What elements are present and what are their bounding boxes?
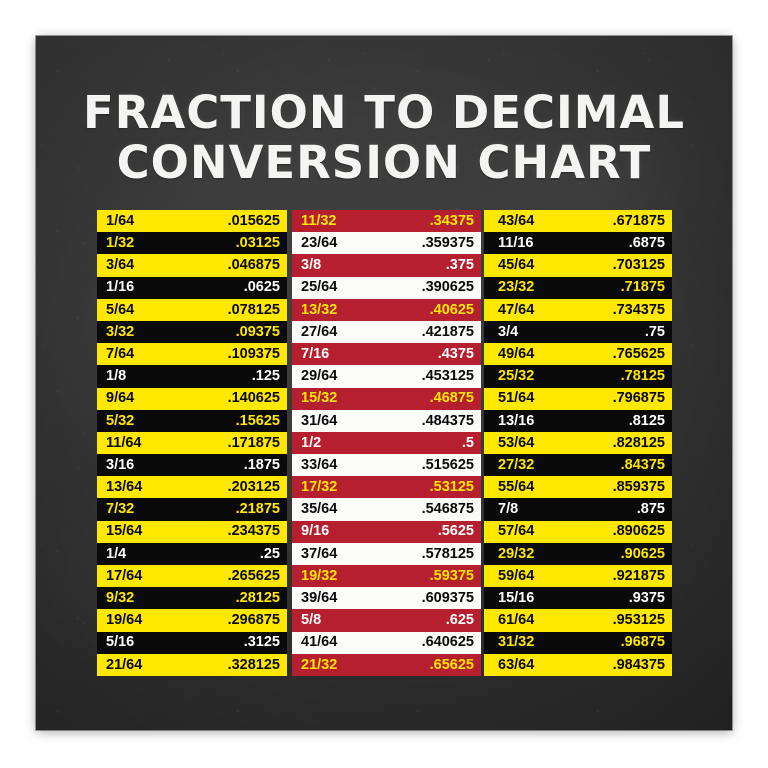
table-row: 63/64.984375: [484, 654, 672, 676]
table-row: 15/16.9375: [484, 587, 672, 609]
decimal-cell: .296875: [228, 613, 280, 628]
fraction-cell: 5/32: [106, 414, 134, 429]
fraction-cell: 11/16: [498, 236, 534, 251]
table-row: 55/64.859375: [484, 476, 672, 498]
table-row: 25/64.390625: [292, 277, 481, 299]
decimal-cell: .609375: [422, 591, 474, 606]
fraction-cell: 31/64: [301, 414, 337, 429]
fraction-cell: 3/32: [106, 325, 134, 340]
decimal-cell: .6875: [629, 236, 665, 251]
decimal-cell: .59375: [430, 569, 474, 584]
fraction-cell: 29/64: [301, 369, 337, 384]
fraction-cell: 1/8: [106, 369, 126, 384]
fraction-cell: 7/32: [106, 502, 134, 517]
table-row: 9/64.140625: [97, 388, 287, 410]
table-row: 25/32.78125: [484, 365, 672, 387]
table-row: 53/64.828125: [484, 432, 672, 454]
decimal-cell: .359375: [422, 236, 474, 251]
table-row: 19/64.296875: [97, 609, 287, 631]
table-row: 7/8.875: [484, 498, 672, 520]
decimal-cell: .875: [637, 502, 665, 517]
table-row: 1/4.25: [97, 543, 287, 565]
table-row: 11/32.34375: [292, 210, 481, 232]
decimal-cell: .65625: [430, 658, 474, 673]
decimal-cell: .9375: [629, 591, 665, 606]
fraction-cell: 63/64: [498, 658, 534, 673]
fraction-cell: 21/64: [106, 658, 142, 673]
table-row: 29/64.453125: [292, 365, 481, 387]
table-row: 1/2.5: [292, 432, 481, 454]
decimal-cell: .078125: [228, 303, 280, 318]
decimal-cell: .625: [446, 613, 474, 628]
fraction-cell: 1/64: [106, 214, 134, 229]
fraction-cell: 39/64: [301, 591, 337, 606]
decimal-cell: .71875: [621, 280, 665, 295]
decimal-cell: .90625: [621, 547, 665, 562]
decimal-cell: .671875: [613, 214, 665, 229]
table-row: 9/16.5625: [292, 521, 481, 543]
decimal-cell: .453125: [422, 369, 474, 384]
fraction-cell: 9/16: [301, 524, 329, 539]
table-row: 49/64.765625: [484, 343, 672, 365]
fraction-cell: 3/8: [301, 258, 321, 273]
poster-canvas: FRACTION TO DECIMAL CONVERSION CHART 1/6…: [0, 0, 768, 768]
decimal-cell: .40625: [430, 303, 474, 318]
table-row: 11/64.171875: [97, 432, 287, 454]
table-row: 1/8.125: [97, 365, 287, 387]
table-row: 11/16.6875: [484, 232, 672, 254]
table-row: 5/64.078125: [97, 299, 287, 321]
page-title: FRACTION TO DECIMAL CONVERSION CHART: [36, 88, 732, 188]
decimal-cell: .203125: [228, 480, 280, 495]
table-row: 23/32.71875: [484, 277, 672, 299]
fraction-cell: 3/16: [106, 458, 134, 473]
decimal-cell: .890625: [613, 524, 665, 539]
table-row: 7/16.4375: [292, 343, 481, 365]
decimal-cell: .03125: [236, 236, 280, 251]
table-row: 61/64.953125: [484, 609, 672, 631]
table-row: 17/64.265625: [97, 565, 287, 587]
chalkboard-panel: FRACTION TO DECIMAL CONVERSION CHART 1/6…: [36, 36, 732, 730]
table-row: 37/64.578125: [292, 543, 481, 565]
decimal-cell: .34375: [430, 214, 474, 229]
table-column-3: 43/64.67187511/16.687545/64.70312523/32.…: [484, 210, 672, 676]
decimal-cell: .578125: [422, 547, 474, 562]
conversion-table: 1/64.0156251/32.031253/64.0468751/16.062…: [97, 210, 672, 676]
table-row: 31/64.484375: [292, 410, 481, 432]
decimal-cell: .859375: [613, 480, 665, 495]
decimal-cell: .796875: [613, 391, 665, 406]
table-column-1: 1/64.0156251/32.031253/64.0468751/16.062…: [97, 210, 287, 676]
table-row: 5/16.3125: [97, 632, 287, 654]
title-line-2: CONVERSION CHART: [36, 138, 732, 188]
table-row: 5/32.15625: [97, 410, 287, 432]
table-row: 27/64.421875: [292, 321, 481, 343]
table-row: 35/64.546875: [292, 498, 481, 520]
table-row: 27/32.84375: [484, 454, 672, 476]
decimal-cell: .828125: [613, 436, 665, 451]
title-line-1: FRACTION TO DECIMAL: [36, 88, 732, 138]
table-row: 39/64.609375: [292, 587, 481, 609]
fraction-cell: 17/32: [301, 480, 337, 495]
fraction-cell: 5/8: [301, 613, 321, 628]
fraction-cell: 1/4: [106, 547, 126, 562]
decimal-cell: .703125: [613, 258, 665, 273]
fraction-cell: 3/4: [498, 325, 518, 340]
fraction-cell: 3/64: [106, 258, 134, 273]
table-row: 15/64.234375: [97, 521, 287, 543]
decimal-cell: .390625: [422, 280, 474, 295]
fraction-cell: 19/64: [106, 613, 142, 628]
decimal-cell: .984375: [613, 658, 665, 673]
decimal-cell: .96875: [621, 635, 665, 650]
fraction-cell: 13/16: [498, 414, 534, 429]
decimal-cell: .953125: [613, 613, 665, 628]
fraction-cell: 7/64: [106, 347, 134, 362]
decimal-cell: .28125: [236, 591, 280, 606]
fraction-cell: 9/32: [106, 591, 134, 606]
table-row: 43/64.671875: [484, 210, 672, 232]
fraction-cell: 13/32: [301, 303, 337, 318]
table-row: 21/64.328125: [97, 654, 287, 676]
decimal-cell: .765625: [613, 347, 665, 362]
decimal-cell: .921875: [613, 569, 665, 584]
decimal-cell: .234375: [228, 524, 280, 539]
decimal-cell: .328125: [228, 658, 280, 673]
fraction-cell: 7/8: [498, 502, 518, 517]
fraction-cell: 27/32: [498, 458, 534, 473]
table-row: 41/64.640625: [292, 632, 481, 654]
fraction-cell: 15/64: [106, 524, 142, 539]
table-row: 3/8.375: [292, 254, 481, 276]
decimal-cell: .78125: [621, 369, 665, 384]
fraction-cell: 1/2: [301, 436, 321, 451]
decimal-cell: .734375: [613, 303, 665, 318]
decimal-cell: .15625: [236, 414, 280, 429]
table-row: 51/64.796875: [484, 388, 672, 410]
decimal-cell: .265625: [228, 569, 280, 584]
fraction-cell: 1/32: [106, 236, 134, 251]
decimal-cell: .546875: [422, 502, 474, 517]
fraction-cell: 5/16: [106, 635, 134, 650]
fraction-cell: 43/64: [498, 214, 534, 229]
fraction-cell: 49/64: [498, 347, 534, 362]
fraction-cell: 55/64: [498, 480, 534, 495]
fraction-cell: 13/64: [106, 480, 142, 495]
decimal-cell: .1875: [244, 458, 280, 473]
fraction-cell: 7/16: [301, 347, 329, 362]
fraction-cell: 9/64: [106, 391, 134, 406]
fraction-cell: 15/32: [301, 391, 337, 406]
fraction-cell: 1/16: [106, 280, 134, 295]
fraction-cell: 23/32: [498, 280, 534, 295]
table-row: 13/64.203125: [97, 476, 287, 498]
decimal-cell: .21875: [236, 502, 280, 517]
fraction-cell: 45/64: [498, 258, 534, 273]
decimal-cell: .046875: [228, 258, 280, 273]
fraction-cell: 15/16: [498, 591, 534, 606]
decimal-cell: .125: [252, 369, 280, 384]
fraction-cell: 17/64: [106, 569, 142, 584]
table-row: 3/16.1875: [97, 454, 287, 476]
table-row: 7/32.21875: [97, 498, 287, 520]
table-row: 3/64.046875: [97, 254, 287, 276]
table-row: 9/32.28125: [97, 587, 287, 609]
decimal-cell: .5625: [438, 524, 474, 539]
table-row: 23/64.359375: [292, 232, 481, 254]
decimal-cell: .8125: [629, 414, 665, 429]
fraction-cell: 21/32: [301, 658, 337, 673]
table-row: 31/32.96875: [484, 632, 672, 654]
table-row: 21/32.65625: [292, 654, 481, 676]
decimal-cell: .515625: [422, 458, 474, 473]
table-row: 7/64.109375: [97, 343, 287, 365]
decimal-cell: .140625: [228, 391, 280, 406]
table-row: 19/32.59375: [292, 565, 481, 587]
table-row: 13/32.40625: [292, 299, 481, 321]
table-row: 17/32.53125: [292, 476, 481, 498]
decimal-cell: .375: [446, 258, 474, 273]
fraction-cell: 59/64: [498, 569, 534, 584]
decimal-cell: .25: [260, 547, 280, 562]
decimal-cell: .421875: [422, 325, 474, 340]
table-row: 59/64.921875: [484, 565, 672, 587]
fraction-cell: 37/64: [301, 547, 337, 562]
table-row: 15/32.46875: [292, 388, 481, 410]
table-column-2: 11/32.3437523/64.3593753/8.37525/64.3906…: [292, 210, 481, 676]
decimal-cell: .3125: [244, 635, 280, 650]
table-row: 57/64.890625: [484, 521, 672, 543]
decimal-cell: .0625: [244, 280, 280, 295]
table-row: 5/8.625: [292, 609, 481, 631]
table-row: 45/64.703125: [484, 254, 672, 276]
fraction-cell: 25/32: [498, 369, 534, 384]
table-row: 1/32.03125: [97, 232, 287, 254]
table-row: 47/64.734375: [484, 299, 672, 321]
table-row: 1/64.015625: [97, 210, 287, 232]
table-row: 29/32.90625: [484, 543, 672, 565]
fraction-cell: 33/64: [301, 458, 337, 473]
fraction-cell: 19/32: [301, 569, 337, 584]
decimal-cell: .46875: [430, 391, 474, 406]
decimal-cell: .171875: [228, 436, 280, 451]
decimal-cell: .015625: [228, 214, 280, 229]
decimal-cell: .640625: [422, 635, 474, 650]
table-row: 13/16.8125: [484, 410, 672, 432]
fraction-cell: 29/32: [498, 547, 534, 562]
fraction-cell: 25/64: [301, 280, 337, 295]
fraction-cell: 53/64: [498, 436, 534, 451]
fraction-cell: 11/32: [301, 214, 337, 229]
table-row: 33/64.515625: [292, 454, 481, 476]
fraction-cell: 27/64: [301, 325, 337, 340]
table-row: 3/4.75: [484, 321, 672, 343]
decimal-cell: .09375: [236, 325, 280, 340]
table-row: 1/16.0625: [97, 277, 287, 299]
decimal-cell: .484375: [422, 414, 474, 429]
fraction-cell: 23/64: [301, 236, 337, 251]
fraction-cell: 61/64: [498, 613, 534, 628]
fraction-cell: 57/64: [498, 524, 534, 539]
fraction-cell: 5/64: [106, 303, 134, 318]
fraction-cell: 35/64: [301, 502, 337, 517]
decimal-cell: .84375: [621, 458, 665, 473]
decimal-cell: .109375: [228, 347, 280, 362]
fraction-cell: 47/64: [498, 303, 534, 318]
table-row: 3/32.09375: [97, 321, 287, 343]
decimal-cell: .5: [462, 436, 474, 451]
fraction-cell: 11/64: [106, 436, 142, 451]
decimal-cell: .53125: [430, 480, 474, 495]
decimal-cell: .4375: [438, 347, 474, 362]
fraction-cell: 41/64: [301, 635, 337, 650]
decimal-cell: .75: [645, 325, 665, 340]
fraction-cell: 51/64: [498, 391, 534, 406]
fraction-cell: 31/32: [498, 635, 534, 650]
